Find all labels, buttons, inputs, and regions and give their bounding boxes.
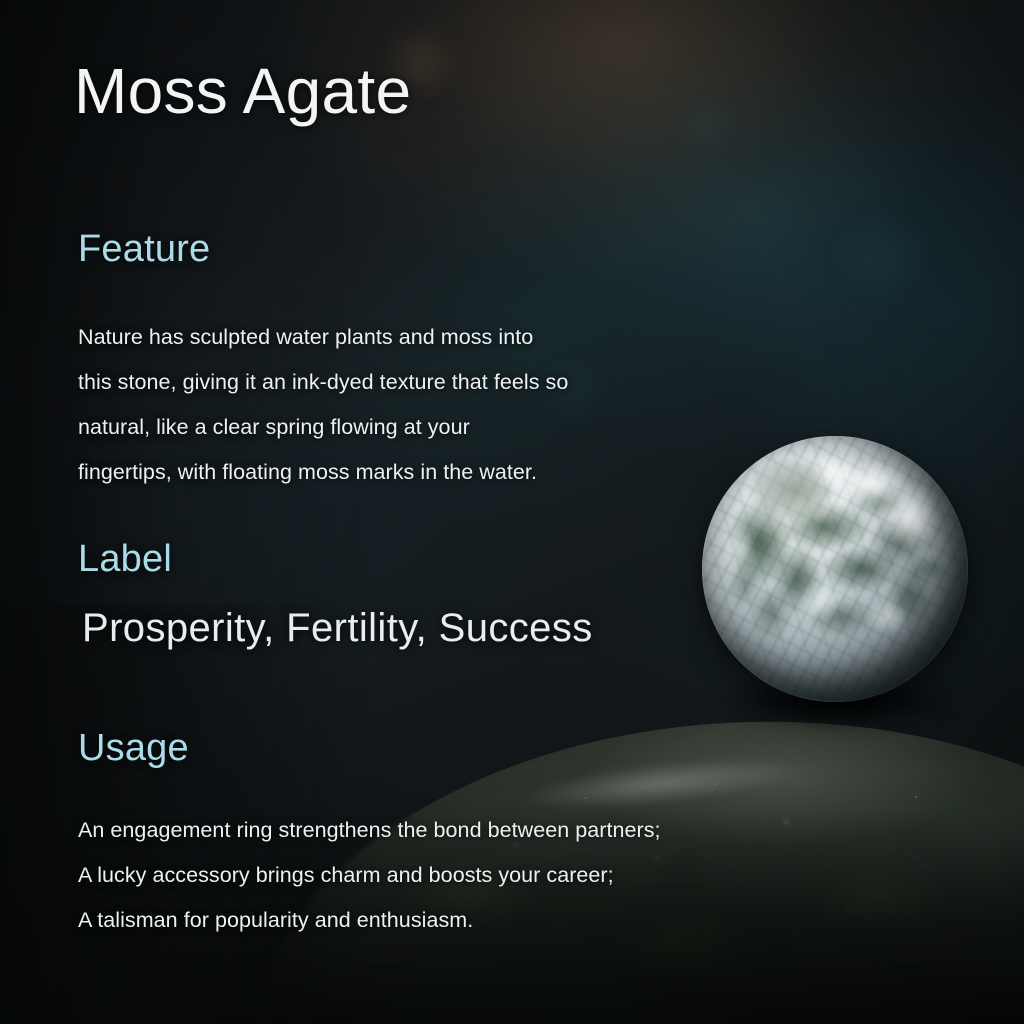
page-title: Moss Agate: [74, 58, 411, 125]
feature-line-4: fingertips, with floating moss marks in …: [78, 450, 568, 495]
feature-paragraph: Nature has sculpted water plants and mos…: [78, 315, 568, 495]
product-poster: Moss Agate Feature Nature has sculpted w…: [0, 0, 1024, 1024]
usage-paragraph: An engagement ring strengthens the bond …: [78, 808, 661, 943]
section-heading-usage: Usage: [78, 727, 189, 770]
feature-line-1: Nature has sculpted water plants and mos…: [78, 315, 568, 360]
usage-line-1: An engagement ring strengthens the bond …: [78, 808, 661, 853]
feature-line-2: this stone, giving it an ink-dyed textur…: [78, 360, 568, 405]
label-value: Prosperity, Fertility, Success: [82, 606, 593, 651]
usage-line-2: A lucky accessory brings charm and boost…: [78, 853, 661, 898]
poster-content: Moss Agate Feature Nature has sculpted w…: [0, 0, 1024, 1024]
section-heading-label: Label: [78, 538, 172, 581]
feature-line-3: natural, like a clear spring flowing at …: [78, 405, 568, 450]
section-heading-feature: Feature: [78, 228, 210, 271]
usage-line-3: A talisman for popularity and enthusiasm…: [78, 898, 661, 943]
